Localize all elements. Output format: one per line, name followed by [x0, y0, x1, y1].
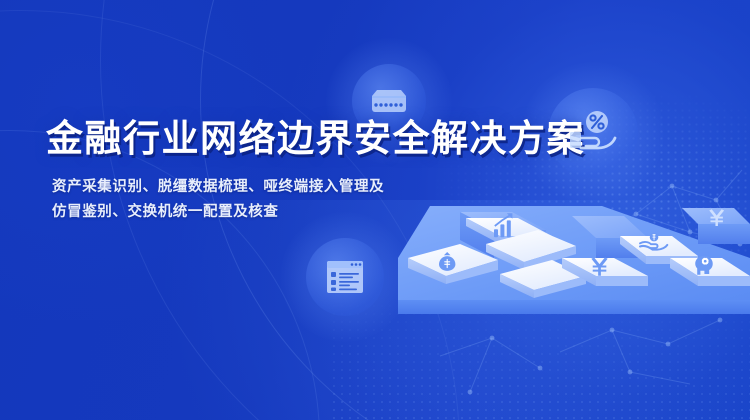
page-subtitle: 资产采集识别、脱缰数据梳理、哑终端接入管理及 仿冒鉴别、交换机统一配置及核查: [52, 175, 516, 225]
marketing-banner: 金融行业网络边界安全解决方案 资产采集识别、脱缰数据梳理、哑终端接入管理及 仿冒…: [0, 0, 750, 420]
subtitle-line-1: 资产采集识别、脱缰数据梳理、哑终端接入管理及: [52, 175, 516, 200]
hand-percent-icon: [567, 110, 619, 156]
page-title: 金融行业网络边界安全解决方案: [46, 118, 516, 159]
headline-block: 金融行业网络边界安全解决方案 资产采集识别、脱缰数据梳理、哑终端接入管理及 仿冒…: [46, 118, 516, 225]
subtitle-line-2: 仿冒鉴别、交换机统一配置及核查: [52, 200, 516, 225]
network-switch-icon: [369, 87, 409, 115]
badge-document-checklist: [306, 238, 384, 316]
document-checklist-icon: [325, 259, 365, 295]
